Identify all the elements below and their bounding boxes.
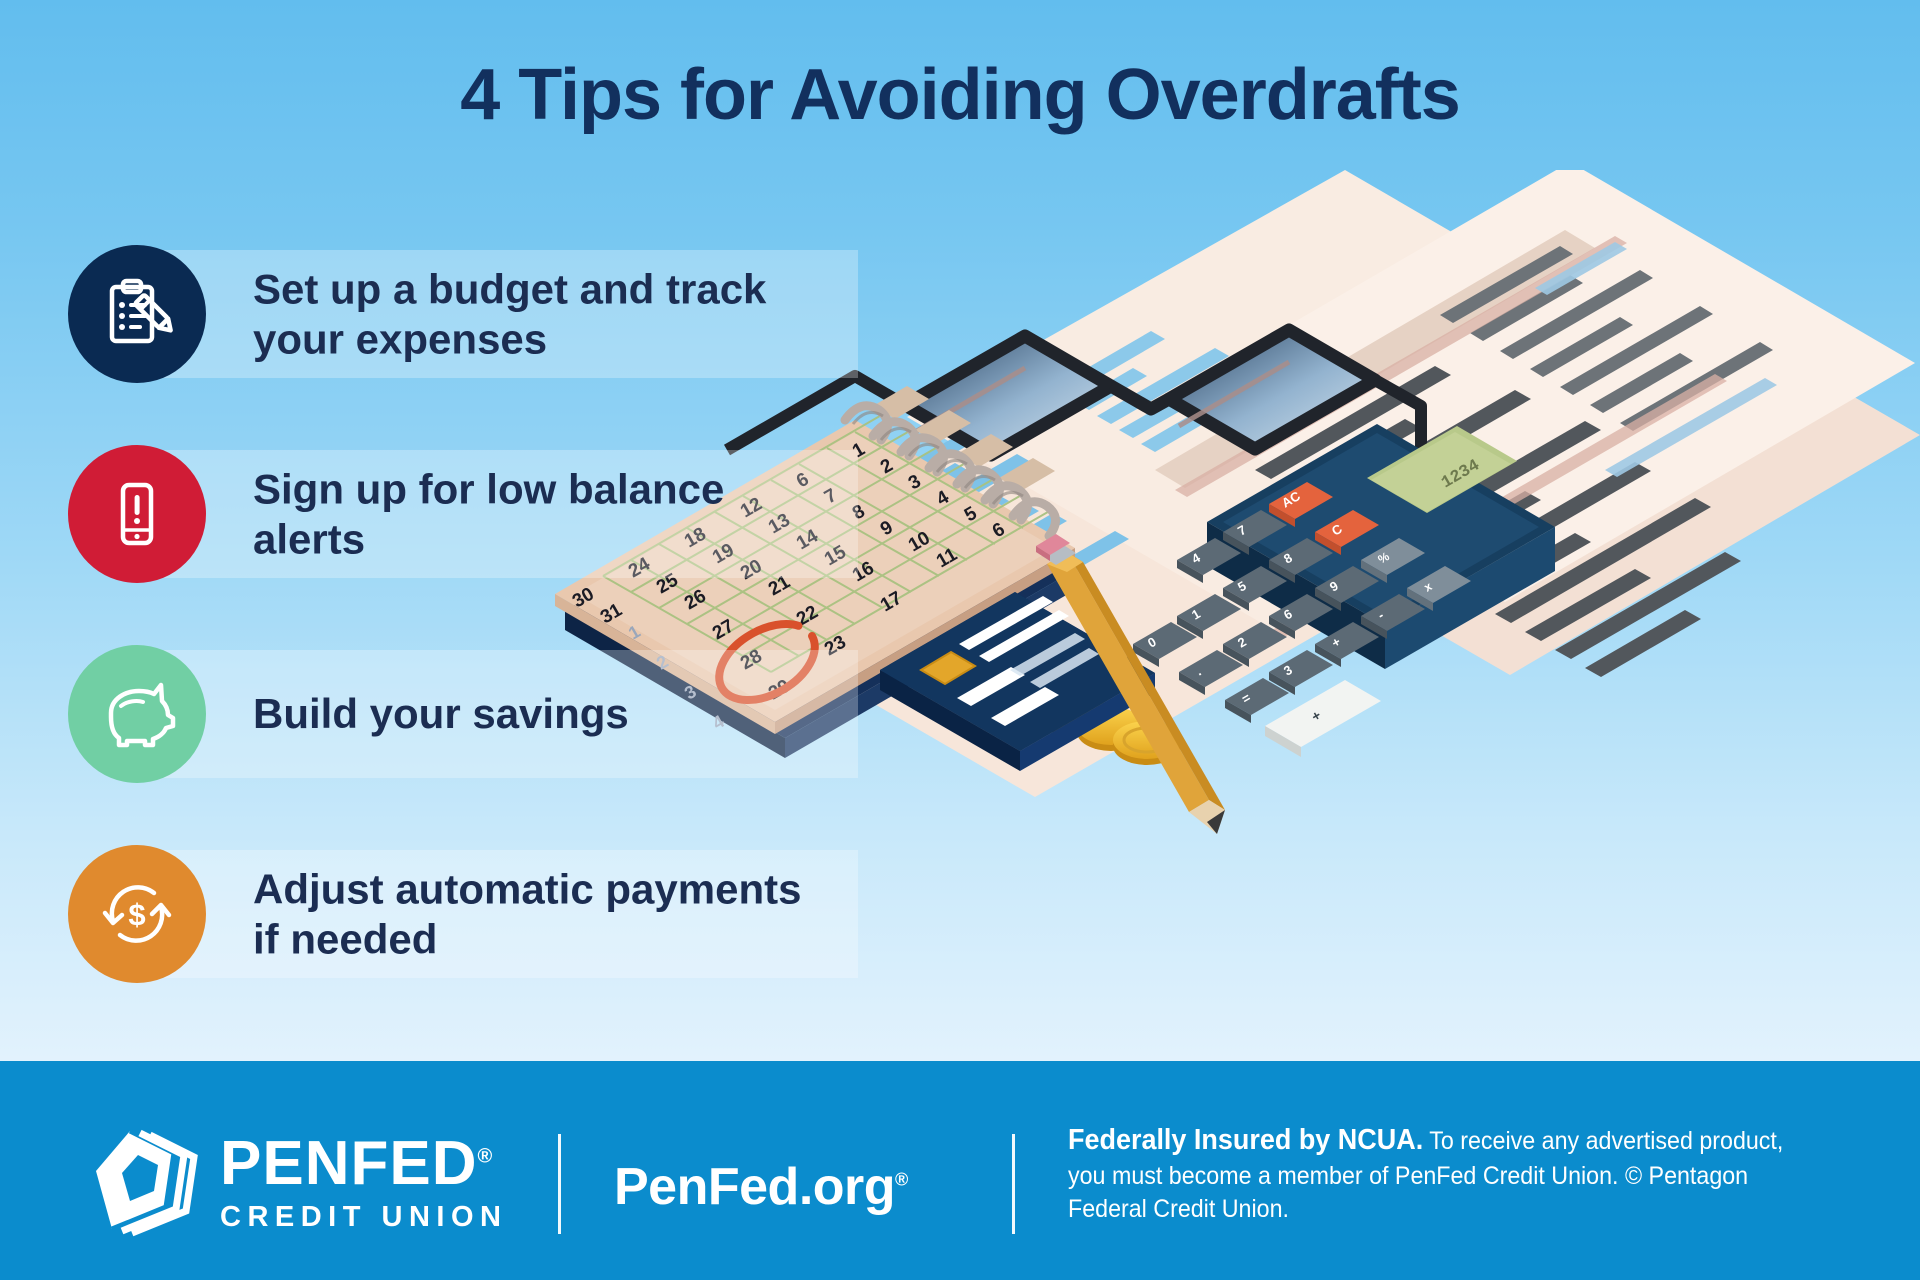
list-item[interactable]: Sign up for low balance alerts <box>68 445 808 583</box>
website-text: PenFed.org <box>614 1158 895 1216</box>
infographic-root: 4 Tips for Avoiding Overdrafts <box>0 0 1920 1280</box>
phone-alert-icon <box>101 478 173 550</box>
logo-sub-text: CREDIT UNION <box>220 1203 507 1232</box>
footer-divider-2 <box>1012 1134 1015 1234</box>
list-item[interactable]: $ Adjust automatic payments if needed <box>68 845 808 983</box>
tip-icon-badge: $ <box>68 845 206 983</box>
tip-icon-badge <box>68 445 206 583</box>
list-item[interactable]: Set up a budget and track your expenses <box>68 245 808 383</box>
registered-mark: ® <box>477 1145 493 1167</box>
tip-label: Build your savings <box>253 689 813 739</box>
registered-mark: ® <box>895 1170 908 1190</box>
list-item[interactable]: Build your savings <box>68 645 808 783</box>
logo-main-text: PENFED <box>220 1129 477 1198</box>
tips-list: Set up a budget and track your expenses … <box>68 245 808 1045</box>
recurring-payment-dollar-icon: $ <box>96 873 178 955</box>
tip-label: Adjust automatic payments if needed <box>253 864 813 963</box>
tip-label: Sign up for low balance alerts <box>253 464 813 563</box>
tip-icon-badge <box>68 245 206 383</box>
legal-disclaimer: Federally Insured by NCUA. To receive an… <box>1068 1121 1812 1226</box>
clipboard-pencil-icon <box>98 275 176 353</box>
svg-text:$: $ <box>128 897 145 932</box>
page-title: 4 Tips for Avoiding Overdrafts <box>0 58 1920 134</box>
disclaimer-bold: Federally Insured by NCUA. <box>1068 1124 1423 1156</box>
piggy-bank-icon <box>95 677 179 751</box>
tip-label: Set up a budget and track your expenses <box>253 264 813 363</box>
tip-icon-badge <box>68 645 206 783</box>
penfed-logo[interactable]: PENFED® CREDIT UNION <box>88 1123 507 1241</box>
website-link[interactable]: PenFed.org® <box>614 1157 908 1217</box>
penfed-pentagon-logo-icon <box>88 1123 206 1241</box>
footer-divider-1 <box>558 1134 561 1234</box>
